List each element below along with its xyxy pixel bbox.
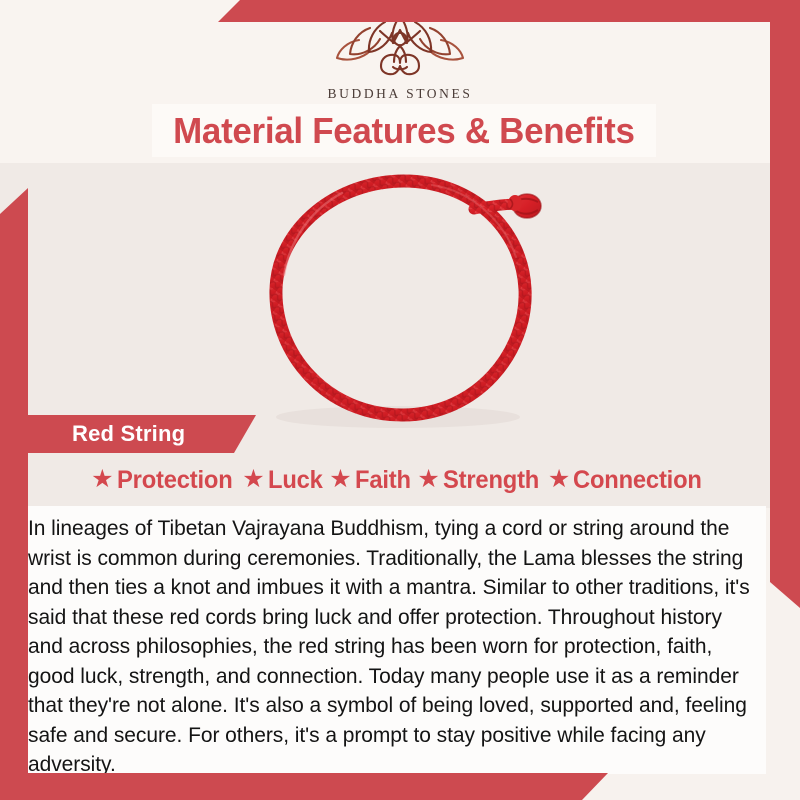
star-icon: ★ bbox=[548, 467, 570, 492]
frame-accent-right bbox=[770, 0, 800, 608]
star-icon: ★ bbox=[242, 467, 264, 492]
description-text: In lineages of Tibetan Vajrayana Buddhis… bbox=[28, 514, 751, 780]
benefit-label: Strength bbox=[443, 466, 539, 495]
page-title-band: Material Features & Benefits bbox=[152, 104, 656, 157]
benefit-label: Faith bbox=[355, 466, 411, 495]
star-icon: ★ bbox=[329, 467, 351, 492]
material-name-label: Red String bbox=[72, 421, 185, 447]
benefit-label: Connection bbox=[573, 466, 702, 495]
infographic-page: BUDDHA STONES Material Features & Benefi… bbox=[0, 0, 800, 800]
lotus-meditation-logo-icon bbox=[325, 12, 475, 84]
frame-accent-top bbox=[218, 0, 800, 22]
benefit-item-faith: ★ Faith bbox=[329, 466, 413, 495]
product-photo-panel bbox=[0, 163, 800, 508]
material-name-banner: Red String bbox=[28, 415, 256, 453]
benefit-item-strength: ★ Strength bbox=[417, 466, 544, 495]
benefits-list: ★ Protection ★ Luck ★ Faith ★ Strength ★… bbox=[0, 466, 800, 495]
star-icon: ★ bbox=[417, 467, 439, 492]
benefit-label: Protection bbox=[117, 466, 233, 495]
page-title: Material Features & Benefits bbox=[173, 110, 634, 152]
benefit-item-connection: ★ Connection bbox=[548, 466, 709, 495]
frame-accent-bottom bbox=[0, 773, 608, 800]
frame-accent-left bbox=[0, 188, 28, 800]
red-braided-string-bracelet-icon bbox=[222, 165, 582, 435]
brand-name: BUDDHA STONES bbox=[0, 86, 800, 102]
star-icon: ★ bbox=[91, 467, 113, 492]
description-panel: In lineages of Tibetan Vajrayana Buddhis… bbox=[28, 506, 766, 774]
brand-logo: BUDDHA STONES bbox=[0, 12, 800, 102]
benefit-item-luck: ★ Luck bbox=[242, 466, 325, 495]
benefit-item-protection: ★ Protection bbox=[91, 466, 238, 495]
benefit-label: Luck bbox=[268, 466, 323, 495]
